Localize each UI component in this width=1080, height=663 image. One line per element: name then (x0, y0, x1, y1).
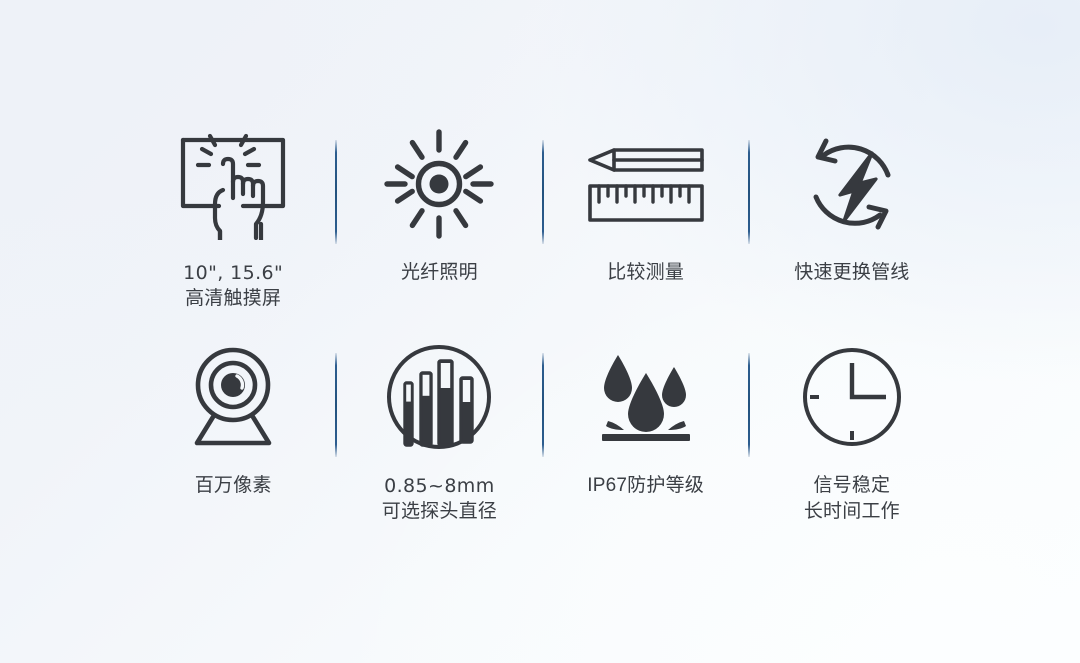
webcam-icon (179, 337, 287, 457)
feature-label-measure: 比较测量 (607, 260, 684, 286)
feature-cell-fiber-light: 光纤照明 (336, 124, 542, 337)
feature-cell-touchscreen: 10", 15.6" 高清触摸屏 (130, 124, 336, 337)
feature-label-megapixel: 百万像素 (195, 473, 272, 499)
sun-fiber-light-icon (381, 124, 497, 244)
feature-cell-ip67: IP67防护等级 (543, 337, 749, 550)
feature-cell-stable-signal: 信号稳定 长时间工作 (749, 337, 955, 550)
clock-icon (800, 337, 904, 457)
refresh-lightning-icon (794, 124, 910, 244)
probe-diameter-icon (385, 337, 493, 457)
waterproof-droplets-icon (588, 337, 704, 457)
touchscreen-icon (173, 124, 293, 244)
feature-label-touchscreen: 10", 15.6" 高清触摸屏 (183, 260, 283, 312)
feature-label-ip67: IP67防护等级 (587, 473, 704, 499)
feature-cell-megapixel: 百万像素 (130, 337, 336, 550)
feature-cell-probe-diameter: 0.85~8mm 可选探头直径 (336, 337, 542, 550)
feature-cell-quick-change: 快速更换管线 (749, 124, 955, 337)
feature-label-quick-change: 快速更换管线 (794, 260, 909, 286)
feature-cell-measure: 比较测量 (543, 124, 749, 337)
feature-grid: 10", 15.6" 高清触摸屏 (130, 124, 955, 550)
feature-label-fiber-light: 光纤照明 (401, 260, 478, 286)
feature-label-probe-diameter: 0.85~8mm 可选探头直径 (382, 473, 497, 525)
pencil-ruler-measure-icon (584, 124, 708, 244)
feature-label-stable-signal: 信号稳定 长时间工作 (804, 473, 900, 525)
